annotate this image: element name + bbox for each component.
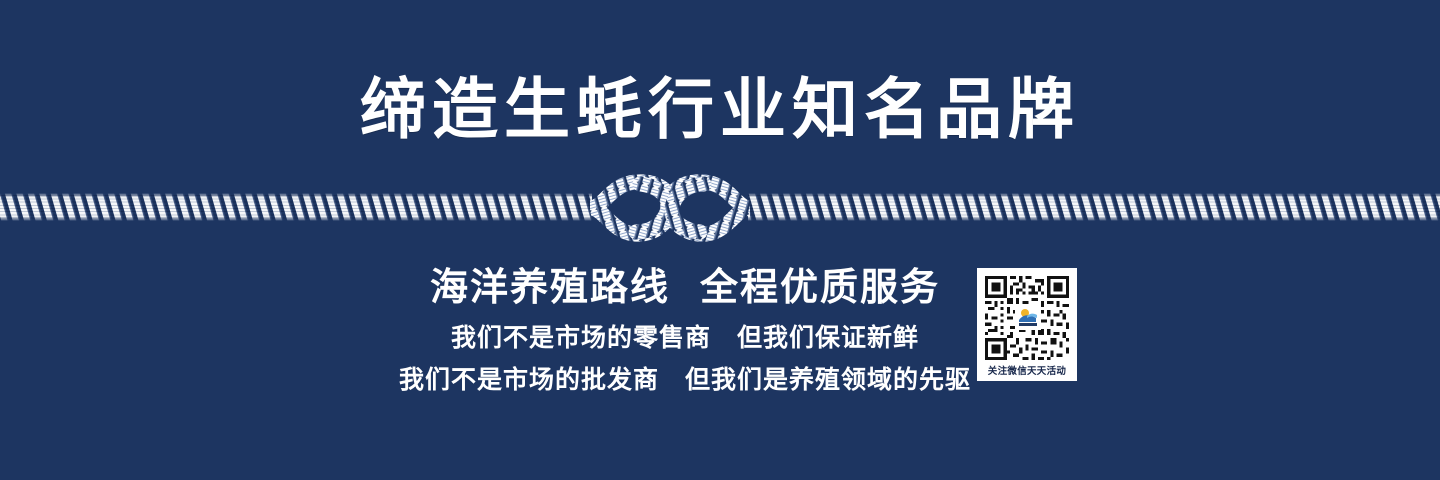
sub-headline-right: 全程优质服务 xyxy=(700,265,940,309)
body-line-1-right: 但我们保证新鲜 xyxy=(737,323,919,352)
body-line-1-left: 我们不是市场的零售商 xyxy=(451,323,711,352)
qr-code-icon[interactable] xyxy=(982,273,1072,363)
promo-banner: 缔造生蚝行业知名品牌 xyxy=(0,0,1440,480)
body-line-2: 我们不是市场的批发商但我们是养殖领域的先驱 xyxy=(0,364,1440,396)
sub-headline-left: 海洋养殖路线 xyxy=(430,265,670,309)
body-line-1: 我们不是市场的零售商但我们保证新鲜 xyxy=(0,322,1440,354)
sub-headline: 海洋养殖路线全程优质服务 xyxy=(0,264,1440,310)
qr-card[interactable]: 关注微信天天活动 xyxy=(977,268,1077,381)
rope-knot-icon xyxy=(588,168,752,248)
qr-caption: 关注微信天天活动 xyxy=(982,363,1072,381)
body-line-2-right: 但我们是养殖领域的先驱 xyxy=(685,365,971,394)
body-line-2-left: 我们不是市场的批发商 xyxy=(399,365,659,394)
brand-logo-icon xyxy=(1015,304,1041,330)
page-title: 缔造生蚝行业知名品牌 xyxy=(0,74,1440,146)
